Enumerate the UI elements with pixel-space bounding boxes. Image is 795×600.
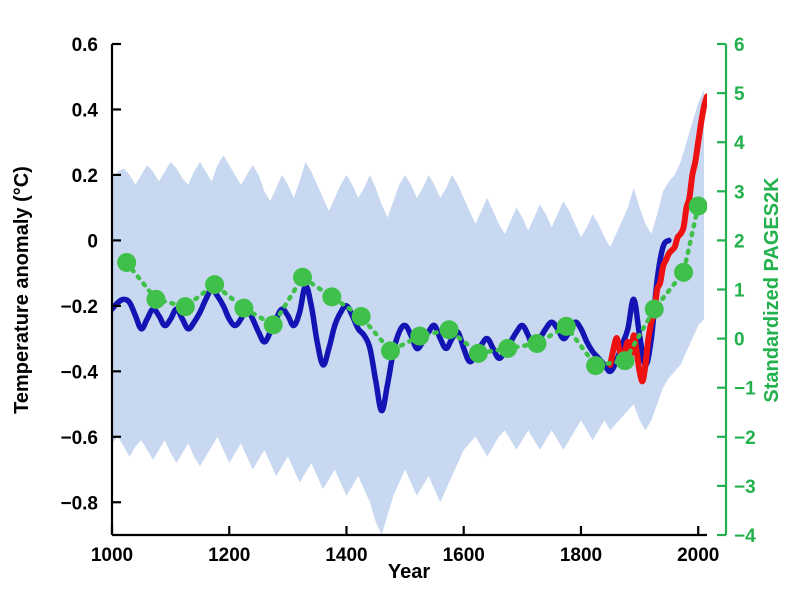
y-tick-label: 0.6 [72, 35, 98, 56]
x-tick-label: 1400 [325, 545, 367, 566]
pages2k-marker [410, 327, 429, 346]
y-tick-label: −0.6 [60, 428, 98, 449]
y-tick-label-right: −3 [734, 477, 756, 498]
x-tick-label: 1000 [91, 545, 133, 566]
pages2k-marker [234, 299, 253, 318]
y-tick-label-right: 1 [734, 281, 745, 302]
pages2k-marker [469, 344, 488, 363]
y-tick-label-right: −2 [734, 428, 756, 449]
y-tick-label-right: 6 [734, 35, 745, 56]
x-tick-label: 1200 [208, 545, 250, 566]
y-tick-label-right: −1 [734, 379, 756, 400]
chart-svg: −0.8−0.6−0.4−0.200.20.40.6 1000120014001… [0, 0, 795, 600]
pages2k-marker [146, 290, 165, 309]
x-axis-title: Year [388, 561, 430, 583]
y-tick-label-right: 2 [734, 231, 745, 252]
y-axis-title: Temperature anomaly (°C) [11, 166, 33, 414]
y-tick-label-right: −4 [734, 526, 756, 547]
pages2k-marker [440, 320, 459, 339]
y-tick-label: 0 [87, 231, 98, 252]
y-tick-label: −0.8 [60, 493, 98, 514]
pages2k-marker [528, 334, 547, 353]
pages2k-marker [557, 317, 576, 336]
pages2k-marker [322, 287, 341, 306]
y-tick-label-right: 4 [734, 133, 745, 154]
pages2k-marker [352, 307, 371, 326]
y-tick-label-right: 0 [734, 330, 745, 351]
x-tick-label: 2000 [677, 545, 719, 566]
pages2k-marker [689, 197, 708, 216]
y-tick-label: 0.2 [72, 166, 98, 187]
y-tick-label-right: 3 [734, 182, 745, 203]
pages2k-marker [645, 300, 664, 319]
pages2k-marker [205, 275, 224, 294]
x-tick-label: 1800 [560, 545, 602, 566]
y-tick-label: −0.2 [60, 297, 98, 318]
y-tick-label: 0.4 [72, 100, 99, 121]
pages2k-marker [674, 263, 693, 282]
pages2k-marker [293, 268, 312, 287]
pages2k-marker [586, 356, 605, 375]
y-tick-label: −0.4 [60, 362, 98, 383]
pages2k-marker [498, 339, 517, 358]
pages2k-marker [176, 297, 195, 316]
y-axis-title-right: Standardized PAGES2K [761, 177, 783, 403]
pages2k-marker [615, 351, 634, 370]
y-tick-label-right: 5 [734, 84, 745, 105]
pages2k-marker [264, 315, 283, 334]
chart-figure: −0.8−0.6−0.4−0.200.20.40.6 1000120014001… [0, 0, 795, 600]
x-tick-label: 1600 [443, 545, 485, 566]
pages2k-marker [381, 341, 400, 360]
pages2k-marker [117, 253, 136, 272]
